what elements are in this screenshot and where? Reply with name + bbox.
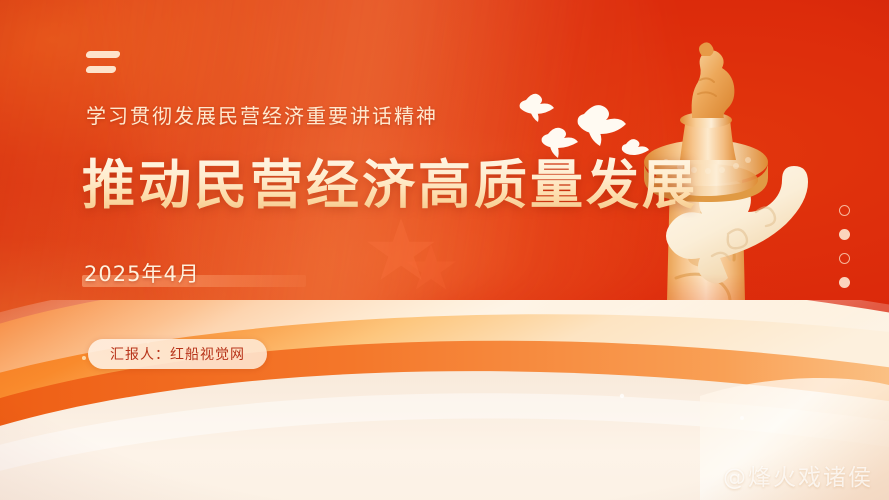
page-title: 推动民营经济高质量发展: [82, 155, 698, 216]
slide-date: 2025年4月: [82, 258, 322, 292]
indicator-dot-4[interactable]: [839, 277, 850, 288]
presenter-badge: 汇报人：红船视觉网: [88, 339, 267, 369]
decorative-stripes-icon: [86, 51, 126, 83]
date-text: 2025年4月: [84, 258, 200, 288]
stripe-bar-top: [85, 51, 120, 58]
stripe-bar-bottom: [85, 66, 116, 73]
background-vignette: [0, 0, 889, 500]
indicator-dot-3[interactable]: [839, 253, 850, 264]
slide-indicator-dots[interactable]: [839, 205, 850, 288]
indicator-dot-1[interactable]: [839, 205, 850, 216]
watermark-text: @烽火戏诸侯: [723, 458, 873, 492]
slide-subtitle: 学习贯彻发展民营经济重要讲话精神: [86, 100, 438, 129]
indicator-dot-2[interactable]: [839, 229, 850, 240]
presenter-label: 汇报人：红船视觉网: [110, 344, 245, 364]
presentation-cover-slide: 学习贯彻发展民营经济重要讲话精神 推动民营经济高质量发展 2025年4月 汇报人…: [0, 0, 889, 500]
